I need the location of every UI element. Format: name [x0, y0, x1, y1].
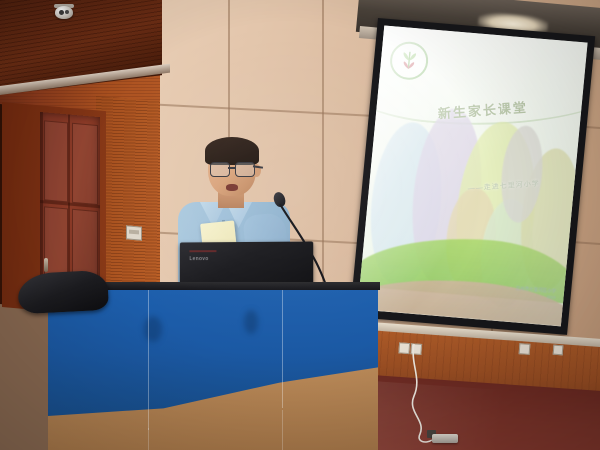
projection-screen: 新生家长课堂 ——走进七里河小学 兰州市七里河区小学 2019	[350, 18, 595, 335]
wall-outlet[interactable]	[398, 342, 410, 354]
screen-surface: 新生家长课堂 ——走进七里河小学 兰州市七里河区小学 2019	[357, 26, 587, 327]
wall-outlet[interactable]	[519, 343, 531, 355]
lectern-panel-seam	[148, 288, 149, 430]
wall-outlet[interactable]	[410, 343, 422, 355]
slide-top-curve	[357, 26, 587, 141]
presentation-slide: 新生家长课堂 ——走进七里河小学 兰州市七里河区小学 2019	[357, 26, 587, 327]
wall-outlet[interactable]	[553, 345, 564, 356]
eyeglasses	[210, 162, 260, 175]
wall-data-plate	[126, 225, 142, 240]
lectern-base-seam	[148, 428, 149, 450]
photo-scene: 新生家长课堂 ——走进七里河小学 兰州市七里河区小学 2019	[0, 0, 600, 450]
lectern-base-seam	[282, 410, 283, 450]
laptop-lid: Lenovo	[180, 241, 313, 286]
lectern-panel-seam	[282, 288, 283, 408]
presenter-hair	[205, 137, 259, 165]
laptop-accent-stripe	[189, 250, 216, 252]
floor-power-strip	[432, 434, 458, 443]
dome-security-camera	[54, 4, 76, 20]
presenter-mouth	[226, 184, 238, 191]
lectern	[48, 288, 378, 450]
door-handle[interactable]	[44, 258, 48, 272]
laptop-brand-label: Lenovo	[189, 256, 208, 262]
